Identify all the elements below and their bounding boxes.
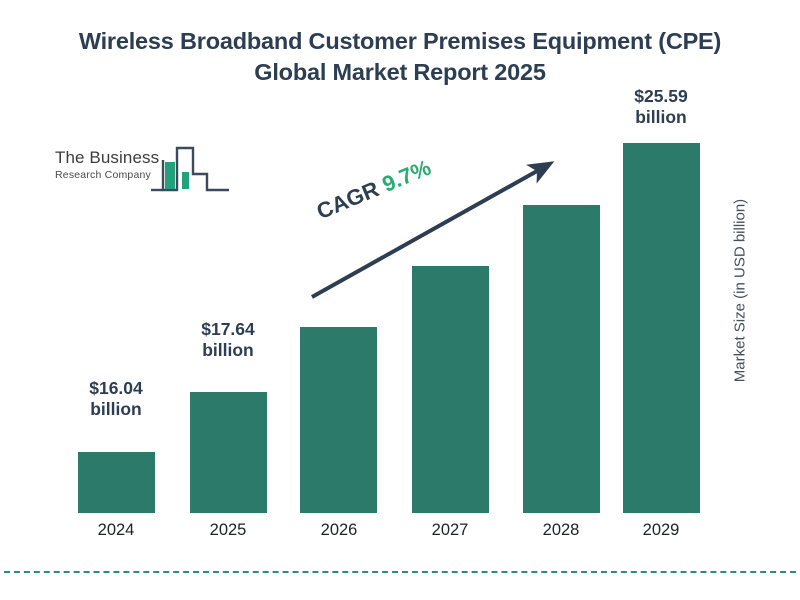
cagr-value: 9.7% [379,155,435,197]
bottom-divider [4,571,796,573]
bar-2026 [300,327,377,513]
value-label-2024-unit: billion [56,399,176,420]
xtick-2028: 2028 [511,521,611,540]
y-axis-title: Market Size (in USD billion) [732,161,749,421]
bar-2029 [623,143,700,513]
xtick-2027: 2027 [400,521,500,540]
xtick-2026: 2026 [289,521,389,540]
value-label-2025-unit: billion [168,340,288,361]
xtick-2024: 2024 [66,521,166,540]
value-label-2025: $17.64 billion [168,319,288,362]
value-label-2029-unit: billion [601,107,721,128]
bar-2024 [78,452,155,513]
bar-2028 [523,205,600,513]
bar-2027 [412,266,489,513]
value-label-2024: $16.04 billion [56,378,176,421]
chart-page: Wireless Broadband Customer Premises Equ… [0,0,800,600]
value-label-2029: $25.59 billion [601,86,721,129]
value-label-2025-amount: $17.64 [168,319,288,340]
bar-2025 [190,392,267,513]
xtick-2029: 2029 [611,521,711,540]
cagr-word: CAGR [313,176,382,224]
xtick-2025: 2025 [178,521,278,540]
value-label-2024-amount: $16.04 [56,378,176,399]
bar-chart: 2024 2025 2026 2027 2028 2029 $16.04 bil… [0,0,800,600]
value-label-2029-amount: $25.59 [601,86,721,107]
cagr-annotation: CAGR 9.7% [313,155,435,225]
